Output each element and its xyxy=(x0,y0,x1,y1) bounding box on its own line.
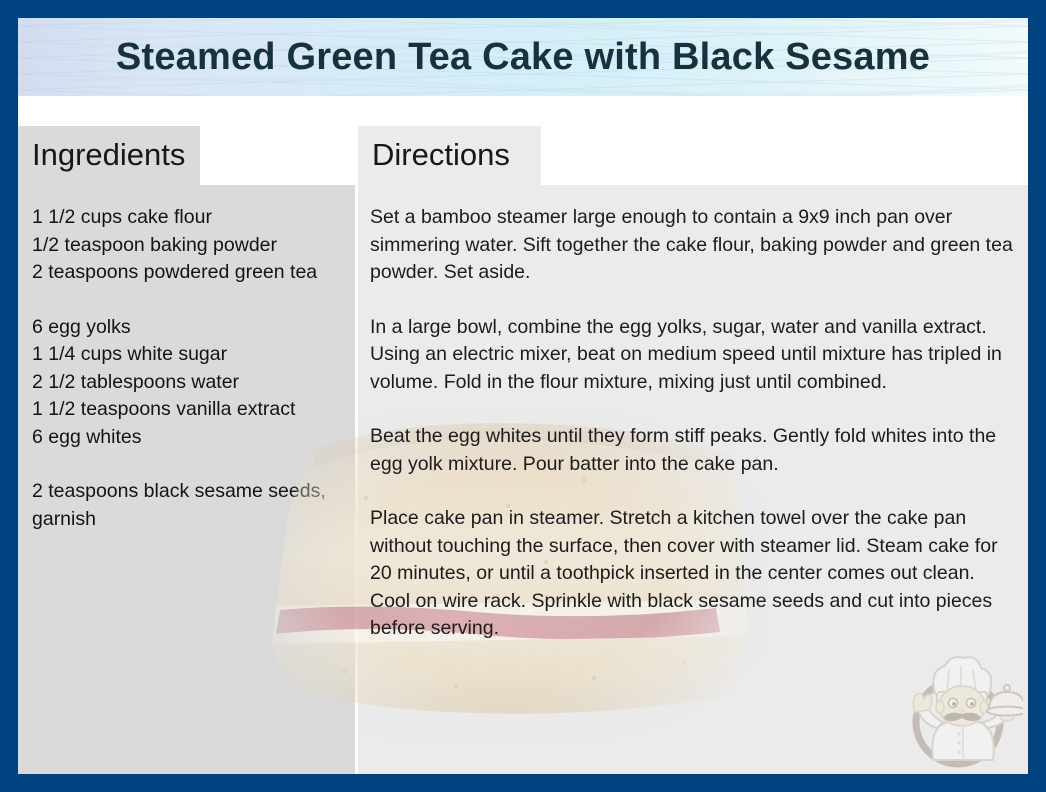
list-item: 2 1/2 tablespoons water xyxy=(32,369,362,397)
direction-paragraph: Beat the egg whites until they form stif… xyxy=(370,423,1016,478)
list-spacer xyxy=(32,451,362,478)
directions-heading-label: Directions xyxy=(372,126,572,186)
title-banner: Steamed Green Tea Cake with Black Sesame xyxy=(18,18,1028,96)
list-item: 2 teaspoons black sesame seeds, garnish xyxy=(32,478,362,533)
list-item: 1/2 teaspoon baking powder xyxy=(32,232,362,260)
list-item: 1 1/4 cups white sugar xyxy=(32,341,362,369)
recipe-card: Steamed Green Tea Cake with Black Sesame… xyxy=(0,0,1046,792)
direction-paragraph: Set a bamboo steamer large enough to con… xyxy=(370,204,1016,287)
list-item: 1 1/2 teaspoons vanilla extract xyxy=(32,396,362,424)
list-item: 1 1/2 cups cake flour xyxy=(32,204,362,232)
list-item: 6 egg whites xyxy=(32,424,362,452)
list-item: 6 egg yolks xyxy=(32,314,362,342)
direction-paragraph: In a large bowl, combine the egg yolks, … xyxy=(370,314,1016,397)
ingredients-list: 1 1/2 cups cake flour 1/2 teaspoon bakin… xyxy=(32,204,362,533)
list-spacer xyxy=(32,287,362,314)
recipe-page: Steamed Green Tea Cake with Black Sesame… xyxy=(18,18,1028,774)
direction-paragraph: Place cake pan in steamer. Stretch a kit… xyxy=(370,505,1016,643)
ingredients-heading-label: Ingredients xyxy=(32,126,212,186)
page-title: Steamed Green Tea Cake with Black Sesame xyxy=(18,18,1028,96)
list-item: 2 teaspoons powdered green tea xyxy=(32,259,362,287)
directions-text: Set a bamboo steamer large enough to con… xyxy=(370,204,1016,643)
